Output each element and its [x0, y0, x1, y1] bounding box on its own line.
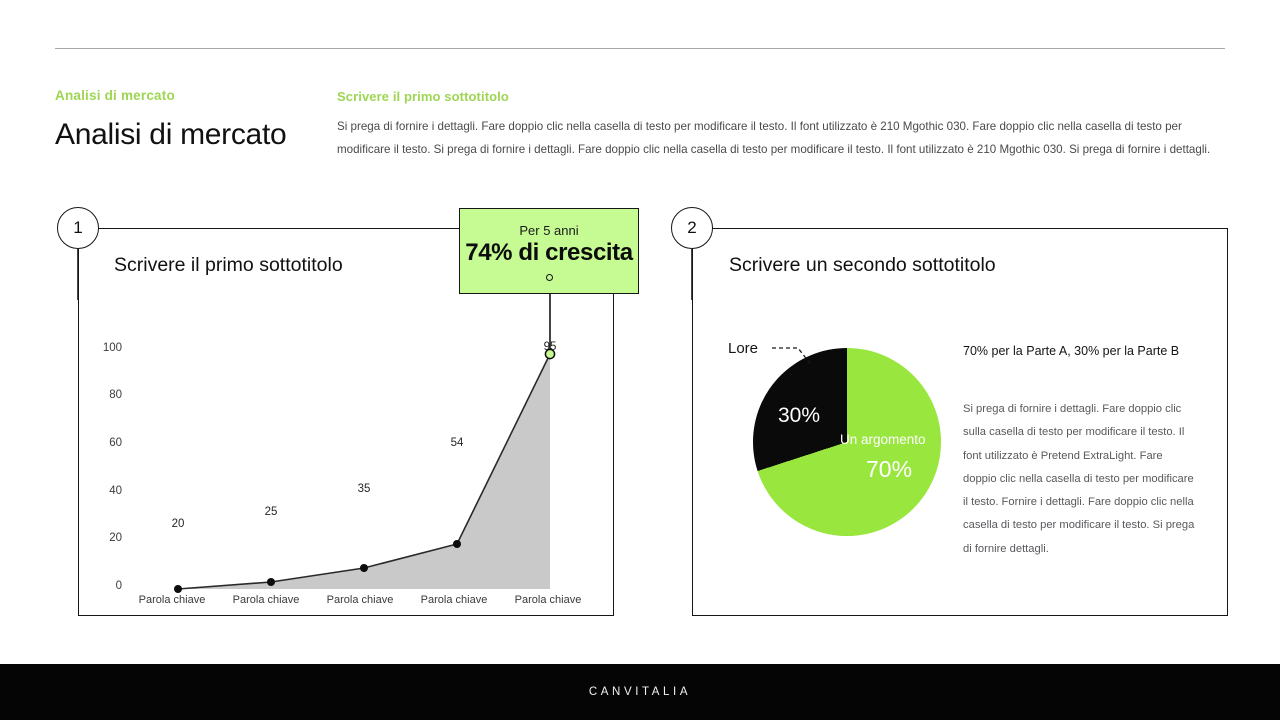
x-tick-4: Parola chiave	[498, 594, 598, 606]
pie-summary-heading: 70% per la Parte A, 30% per la Parte B	[963, 344, 1213, 358]
growth-callout[interactable]: Per 5 anni 74% di crescita	[459, 208, 639, 294]
pie-summary-body: Si prega di fornire i dettagli. Fare dop…	[963, 398, 1195, 561]
page-title: Analisi di mercato	[55, 118, 286, 152]
x-tick-1: Parola chiave	[216, 594, 316, 606]
slide-footer: CANVITALIA	[0, 664, 1280, 720]
x-tick-0: Parola chiave	[122, 594, 222, 606]
panel-number-badge-2: 2	[671, 207, 713, 249]
x-tick-2: Parola chiave	[310, 594, 410, 606]
header-eyebrow-right: Scrivere il primo sottotitolo	[337, 89, 509, 104]
y-tick-40: 40	[96, 485, 122, 497]
pie-slice-pct-black: 30%	[778, 404, 820, 428]
header-divider	[55, 48, 1225, 49]
point-label-3: 54	[437, 437, 477, 449]
y-tick-0: 0	[96, 580, 122, 592]
y-tick-60: 60	[96, 437, 122, 449]
pie-leader-label-lore: Lore	[728, 340, 758, 357]
pie-slice-name-green: Un argomento	[840, 432, 926, 447]
point-label-0: 20	[158, 518, 198, 530]
callout-marker-dot	[546, 274, 553, 281]
y-tick-100: 100	[96, 342, 122, 354]
x-tick-3: Parola chiave	[404, 594, 504, 606]
header-eyebrow-left: Analisi di mercato	[55, 88, 175, 103]
panel-number-badge-1: 1	[57, 207, 99, 249]
pie-slice-pct-green: 70%	[866, 456, 912, 483]
slide-canvas: Analisi di mercato Analisi di mercato Sc…	[0, 0, 1280, 720]
y-tick-80: 80	[96, 389, 122, 401]
y-tick-20: 20	[96, 532, 122, 544]
callout-subtitle: Per 5 anni	[519, 223, 578, 238]
header-body-text: Si prega di fornire i dettagli. Fare dop…	[337, 115, 1227, 161]
point-label-2: 35	[344, 483, 384, 495]
point-label-1: 25	[251, 506, 291, 518]
panel-title-2: Scrivere un secondo sottotitolo	[729, 254, 996, 277]
footer-brand: CANVITALIA	[589, 686, 691, 698]
point-label-4: 95	[530, 341, 570, 353]
callout-value: 74% di crescita	[465, 239, 632, 267]
